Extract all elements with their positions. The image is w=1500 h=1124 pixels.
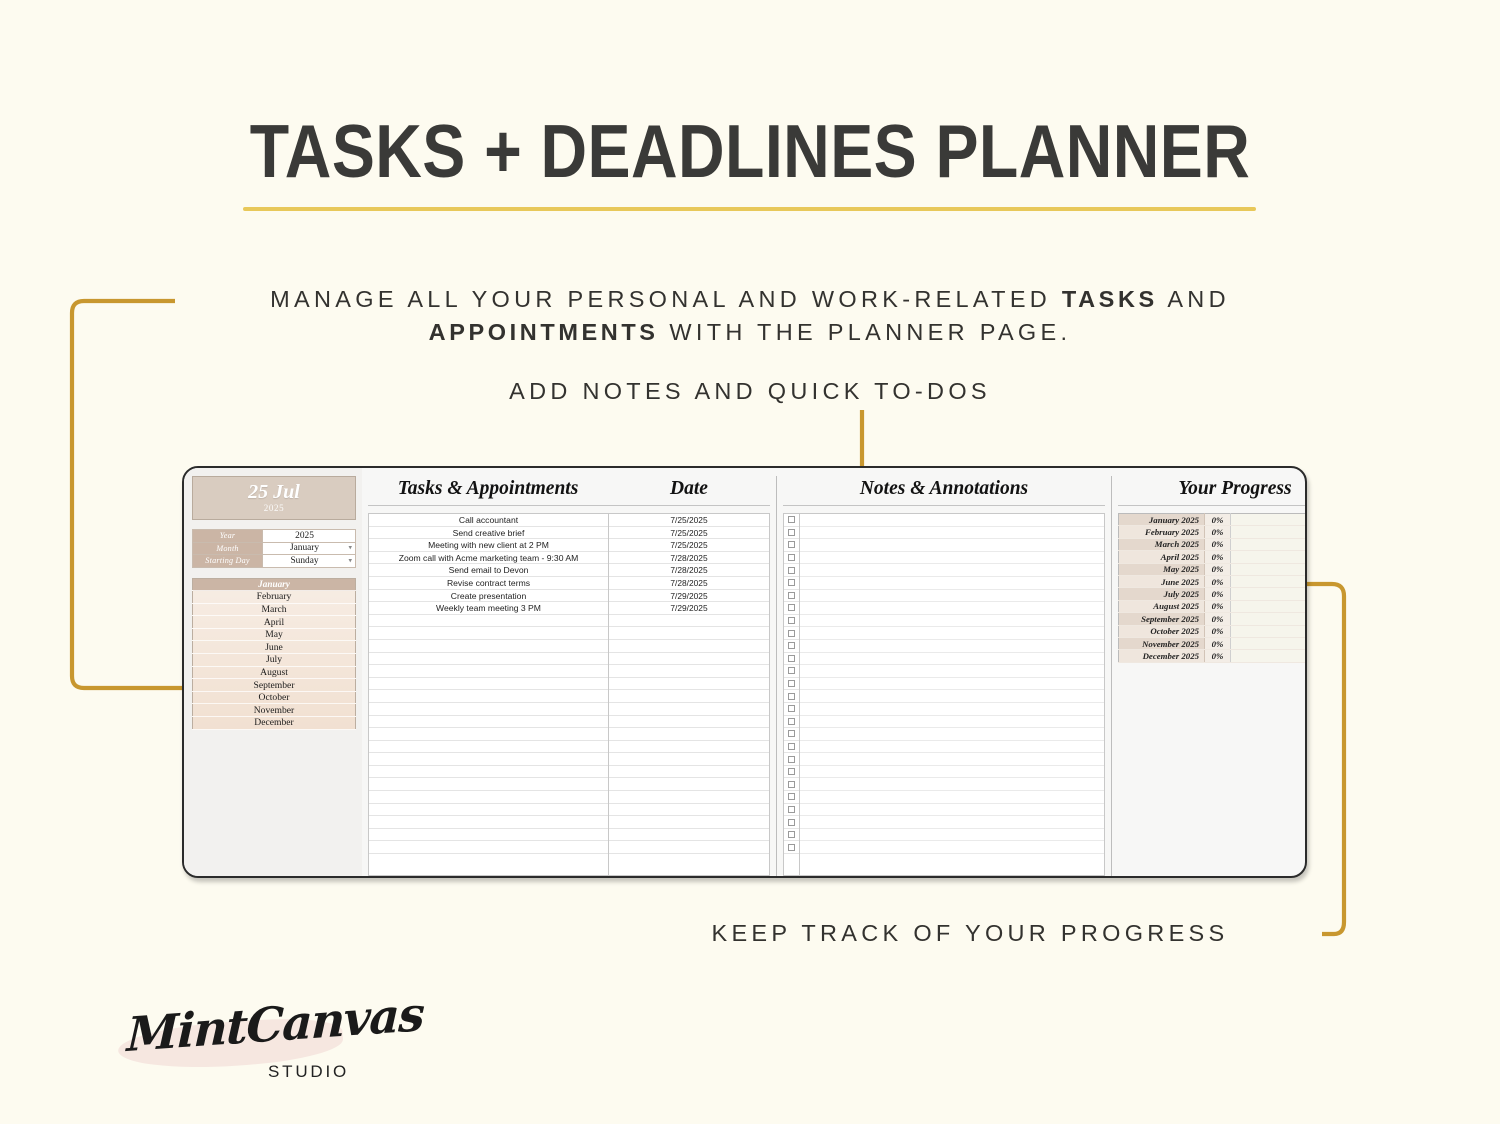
task-cell[interactable] [369, 841, 608, 854]
setting-row[interactable]: Year2025 [193, 530, 356, 543]
date-cell[interactable] [609, 804, 769, 817]
progress-bar-cell [1231, 613, 1308, 625]
checkbox-icon[interactable] [788, 693, 795, 700]
setting-value[interactable]: January▾ [263, 542, 356, 555]
date-cell[interactable] [609, 778, 769, 791]
progress-percent-value: 0% [1205, 637, 1231, 649]
setting-label: Month [193, 542, 263, 555]
date-cell[interactable] [609, 728, 769, 741]
note-checkbox-cell[interactable] [784, 703, 799, 716]
month-label: June [193, 641, 356, 654]
note-checkbox-cell[interactable] [784, 514, 799, 527]
date-badge-year: 2025 [264, 502, 284, 514]
task-cell[interactable] [369, 627, 608, 640]
note-checkbox-cell[interactable] [784, 690, 799, 703]
progress-month-label: September 2025 [1119, 613, 1205, 625]
note-checkbox-cell[interactable] [784, 590, 799, 603]
date-cell[interactable] [609, 766, 769, 779]
task-cell[interactable] [369, 728, 608, 741]
progress-row: June 20250% [1119, 575, 1308, 587]
checkbox-icon[interactable] [788, 604, 795, 611]
checkbox-icon[interactable] [788, 806, 795, 813]
note-text-cell[interactable] [800, 590, 1104, 603]
checkbox-icon[interactable] [788, 516, 795, 523]
month-list-item[interactable]: May [193, 628, 356, 641]
date-cell[interactable]: 7/25/2025 [609, 539, 769, 552]
month-label: January [193, 578, 356, 591]
note-checkbox-cell[interactable] [784, 602, 799, 615]
note-checkbox-cell[interactable] [784, 841, 799, 854]
date-column-header: Date [608, 476, 770, 506]
setting-label: Starting Day [193, 555, 263, 568]
note-checkbox-cell[interactable] [784, 804, 799, 817]
progress-bar-cell [1231, 526, 1308, 538]
task-cell[interactable] [369, 653, 608, 666]
tasks-column-header: Tasks & Appointments [368, 476, 608, 506]
subtitle-text-3: WITH THE PLANNER PAGE. [659, 319, 1072, 345]
note-text-cell[interactable] [800, 615, 1104, 628]
month-rows: JanuaryFebruaryMarchAprilMayJuneJulyAugu… [193, 578, 356, 729]
progress-percent-value: 0% [1205, 551, 1231, 563]
date-cell[interactable] [609, 703, 769, 716]
date-cell[interactable] [609, 841, 769, 854]
tasks-header-row: Tasks & Appointments Date [368, 476, 770, 506]
note-checkbox-cell[interactable] [784, 653, 799, 666]
task-cell[interactable] [369, 665, 608, 678]
date-cell[interactable] [609, 678, 769, 691]
note-text-cell[interactable] [800, 778, 1104, 791]
task-cell[interactable] [369, 716, 608, 729]
notes-grid[interactable] [783, 513, 1105, 876]
tasks-column: Tasks & Appointments Date Call accountan… [362, 476, 776, 876]
task-cell[interactable]: Revise contract terms [369, 577, 608, 590]
setting-row[interactable]: MonthJanuary▾ [193, 542, 356, 555]
note-text-cell[interactable] [800, 804, 1104, 817]
month-label: April [193, 616, 356, 629]
planner-window: 25 Jul 2025 Year2025MonthJanuary▾Startin… [182, 466, 1307, 878]
checkbox-icon[interactable] [788, 579, 795, 586]
logo-subtitle-text: STUDIO [268, 1062, 349, 1082]
note-checkbox-cell[interactable] [784, 791, 799, 804]
progress-bar-cell [1231, 538, 1308, 550]
progress-row: July 20250% [1119, 588, 1308, 600]
task-cell[interactable]: Zoom call with Acme marketing team - 9:3… [369, 552, 608, 565]
date-cell[interactable]: 7/25/2025 [609, 527, 769, 540]
progress-percent-value: 0% [1205, 625, 1231, 637]
checkbox-icon[interactable] [788, 642, 795, 649]
progress-percent-value: 0% [1205, 613, 1231, 625]
tasks-grid[interactable]: Call accountantSend creative briefMeetin… [368, 513, 770, 876]
note-checkbox-cell[interactable] [784, 627, 799, 640]
progress-rows: January 20250%February 20250%March 20250… [1119, 514, 1308, 663]
callout-notes-label: ADD NOTES AND QUICK TO-DOS [150, 378, 1350, 405]
note-checkbox-cell[interactable] [784, 716, 799, 729]
task-cell[interactable]: Send email to Devon [369, 564, 608, 577]
checkbox-icon[interactable] [788, 667, 795, 674]
date-badge: 25 Jul 2025 [192, 476, 356, 520]
task-cell[interactable]: Send creative brief [369, 527, 608, 540]
progress-column-header: Your Progress [1118, 476, 1307, 506]
note-text-cell[interactable] [800, 552, 1104, 565]
notes-checkbox-column[interactable] [784, 514, 800, 875]
progress-percent-value: 0% [1205, 588, 1231, 600]
notes-column-header: Notes & Annotations [783, 476, 1105, 506]
checkbox-icon[interactable] [788, 541, 795, 548]
task-cell[interactable] [369, 741, 608, 754]
month-label: October [193, 691, 356, 704]
date-cell[interactable] [609, 829, 769, 842]
settings-rows: Year2025MonthJanuary▾Starting DaySunday▾ [193, 530, 356, 568]
checkbox-icon[interactable] [788, 844, 795, 851]
task-cell[interactable] [369, 829, 608, 842]
month-label: November [193, 704, 356, 717]
note-text-cell[interactable] [800, 564, 1104, 577]
note-text-cell[interactable] [800, 703, 1104, 716]
note-checkbox-cell[interactable] [784, 678, 799, 691]
progress-month-label: August 2025 [1119, 600, 1205, 612]
date-cell[interactable]: 7/29/2025 [609, 602, 769, 615]
month-label: July [193, 654, 356, 667]
date-cell[interactable] [609, 791, 769, 804]
progress-table-wrap: January 20250%February 20250%March 20250… [1118, 513, 1307, 663]
progress-row: September 20250% [1119, 613, 1308, 625]
month-label: August [193, 666, 356, 679]
progress-month-label: February 2025 [1119, 526, 1205, 538]
progress-row: August 20250% [1119, 600, 1308, 612]
chevron-down-icon[interactable]: ▾ [348, 557, 352, 564]
setting-label: Year [193, 530, 263, 543]
task-cell[interactable] [369, 804, 608, 817]
subtitle-line: MANAGE ALL YOUR PERSONAL AND WORK-RELATE… [150, 283, 1350, 349]
task-cell[interactable] [369, 791, 608, 804]
note-checkbox-cell[interactable] [784, 778, 799, 791]
logo-script-text: MintCanvas [126, 987, 424, 1063]
month-label: May [193, 628, 356, 641]
checkbox-icon[interactable] [788, 756, 795, 763]
task-cell[interactable]: Create presentation [369, 590, 608, 603]
note-checkbox-cell[interactable] [784, 665, 799, 678]
progress-month-label: April 2025 [1119, 551, 1205, 563]
progress-month-label: July 2025 [1119, 588, 1205, 600]
note-text-cell[interactable] [800, 653, 1104, 666]
subtitle-bold-tasks: TASKS [1062, 286, 1158, 312]
note-checkbox-cell[interactable] [784, 816, 799, 829]
note-checkbox-cell[interactable] [784, 564, 799, 577]
progress-percent-value: 0% [1205, 563, 1231, 575]
note-text-cell[interactable] [800, 678, 1104, 691]
date-cell[interactable] [609, 653, 769, 666]
task-cell[interactable] [369, 778, 608, 791]
progress-percent-value: 0% [1205, 538, 1231, 550]
note-text-cell[interactable] [800, 539, 1104, 552]
task-cell[interactable] [369, 753, 608, 766]
note-checkbox-cell[interactable] [784, 577, 799, 590]
note-text-cell[interactable] [800, 728, 1104, 741]
checkbox-icon[interactable] [788, 567, 795, 574]
date-cell[interactable]: 7/29/2025 [609, 590, 769, 603]
poster-canvas: TASKS + DEADLINES PLANNER MANAGE ALL YOU… [0, 0, 1500, 1124]
month-label: December [193, 717, 356, 730]
chevron-down-icon[interactable]: ▾ [348, 545, 352, 552]
progress-row: December 20250% [1119, 650, 1308, 662]
date-cell[interactable] [609, 753, 769, 766]
checkbox-icon[interactable] [788, 781, 795, 788]
date-cells[interactable]: 7/25/20257/25/20257/25/20257/28/20257/28… [609, 514, 769, 875]
notes-text-column[interactable] [800, 514, 1104, 875]
month-list-item[interactable]: October [193, 691, 356, 704]
progress-month-label: May 2025 [1119, 563, 1205, 575]
note-checkbox-cell[interactable] [784, 640, 799, 653]
date-cell[interactable] [609, 690, 769, 703]
note-text-cell[interactable] [800, 716, 1104, 729]
note-text-cell[interactable] [800, 741, 1104, 754]
progress-bar-cell [1231, 650, 1308, 662]
month-list-item[interactable]: January [193, 578, 356, 591]
task-cells[interactable]: Call accountantSend creative briefMeetin… [369, 514, 609, 875]
note-checkbox-cell[interactable] [784, 527, 799, 540]
task-cell[interactable] [369, 690, 608, 703]
date-cell[interactable] [609, 741, 769, 754]
note-checkbox-cell[interactable] [784, 615, 799, 628]
note-text-cell[interactable] [800, 829, 1104, 842]
month-list: JanuaryFebruaryMarchAprilMayJuneJulyAugu… [192, 578, 356, 730]
setting-value[interactable]: 2025 [263, 530, 356, 543]
progress-bar-cell [1231, 563, 1308, 575]
month-list-item[interactable]: July [193, 654, 356, 667]
progress-row: November 20250% [1119, 637, 1308, 649]
planner-main: Tasks & Appointments Date Call accountan… [362, 468, 1307, 876]
progress-percent-value: 0% [1205, 600, 1231, 612]
checkbox-icon[interactable] [788, 617, 795, 624]
task-cell[interactable] [369, 816, 608, 829]
month-list-item[interactable]: September [193, 679, 356, 692]
notes-column: Notes & Annotations [776, 476, 1112, 876]
title-underline-rule [243, 207, 1256, 211]
date-cell[interactable] [609, 627, 769, 640]
progress-month-label: December 2025 [1119, 650, 1205, 662]
progress-bar-cell [1231, 551, 1308, 563]
subtitle-bold-appointments: APPOINTMENTS [429, 319, 659, 345]
progress-month-label: June 2025 [1119, 575, 1205, 587]
note-text-cell[interactable] [800, 690, 1104, 703]
progress-row: October 20250% [1119, 625, 1308, 637]
date-cell[interactable] [609, 665, 769, 678]
note-text-cell[interactable] [800, 602, 1104, 615]
checkbox-icon[interactable] [788, 743, 795, 750]
note-text-cell[interactable] [800, 816, 1104, 829]
task-cell[interactable]: Weekly team meeting 3 PM [369, 602, 608, 615]
date-cell[interactable]: 7/25/2025 [609, 514, 769, 527]
note-text-cell[interactable] [800, 640, 1104, 653]
date-cell[interactable] [609, 615, 769, 628]
month-label: September [193, 679, 356, 692]
date-cell[interactable]: 7/28/2025 [609, 564, 769, 577]
note-text-cell[interactable] [800, 577, 1104, 590]
subtitle-text-1: MANAGE ALL YOUR PERSONAL AND WORK-RELATE… [270, 286, 1062, 312]
month-list-item[interactable]: November [193, 704, 356, 717]
task-cell[interactable]: Meeting with new client at 2 PM [369, 539, 608, 552]
note-checkbox-cell[interactable] [784, 753, 799, 766]
date-cell[interactable] [609, 816, 769, 829]
note-checkbox-cell[interactable] [784, 728, 799, 741]
task-cell[interactable] [369, 640, 608, 653]
progress-bar-cell [1231, 600, 1308, 612]
checkbox-icon[interactable] [788, 529, 795, 536]
checkbox-icon[interactable] [788, 554, 795, 561]
note-text-cell[interactable] [800, 665, 1104, 678]
note-text-cell[interactable] [800, 791, 1104, 804]
month-list-item[interactable]: August [193, 666, 356, 679]
note-checkbox-cell[interactable] [784, 552, 799, 565]
progress-table: January 20250%February 20250%March 20250… [1118, 513, 1307, 663]
month-list-item[interactable]: April [193, 616, 356, 629]
progress-bar-cell [1231, 588, 1308, 600]
callout-progress-label: KEEP TRACK OF YOUR PROGRESS [600, 920, 1340, 947]
month-list-item[interactable]: December [193, 717, 356, 730]
planner-sidebar: 25 Jul 2025 Year2025MonthJanuary▾Startin… [184, 468, 362, 876]
setting-row[interactable]: Starting DaySunday▾ [193, 555, 356, 568]
note-checkbox-cell[interactable] [784, 766, 799, 779]
subtitle-text-2: AND [1158, 286, 1230, 312]
note-text-cell[interactable] [800, 766, 1104, 779]
progress-percent-value: 0% [1205, 650, 1231, 662]
checkbox-icon[interactable] [788, 793, 795, 800]
note-checkbox-cell[interactable] [784, 741, 799, 754]
note-text-cell[interactable] [800, 527, 1104, 540]
month-list-item[interactable]: June [193, 641, 356, 654]
checkbox-icon[interactable] [788, 718, 795, 725]
progress-month-label: January 2025 [1119, 514, 1205, 526]
task-cell[interactable] [369, 766, 608, 779]
task-cell[interactable] [369, 703, 608, 716]
progress-bar-cell [1231, 637, 1308, 649]
progress-percent-value: 0% [1205, 514, 1231, 526]
checkbox-icon[interactable] [788, 819, 795, 826]
month-list-item[interactable]: March [193, 603, 356, 616]
planner-settings-table: Year2025MonthJanuary▾Starting DaySunday▾ [192, 529, 356, 568]
note-text-cell[interactable] [800, 514, 1104, 527]
setting-value[interactable]: Sunday▾ [263, 555, 356, 568]
checkbox-icon[interactable] [788, 768, 795, 775]
date-cell[interactable] [609, 716, 769, 729]
date-cell[interactable] [609, 640, 769, 653]
progress-row: March 20250% [1119, 538, 1308, 550]
page-title: TASKS + DEADLINES PLANNER [105, 108, 1395, 194]
note-checkbox-cell[interactable] [784, 829, 799, 842]
progress-month-label: March 2025 [1119, 538, 1205, 550]
progress-bar-cell [1231, 625, 1308, 637]
note-text-cell[interactable] [800, 753, 1104, 766]
note-text-cell[interactable] [800, 841, 1104, 854]
progress-row: January 20250% [1119, 514, 1308, 526]
progress-row: May 20250% [1119, 563, 1308, 575]
date-cell[interactable]: 7/28/2025 [609, 552, 769, 565]
progress-column: Your Progress January 20250%February 202… [1112, 476, 1307, 876]
note-checkbox-cell[interactable] [784, 539, 799, 552]
month-label: February [193, 591, 356, 604]
checkbox-icon[interactable] [788, 831, 795, 838]
progress-row: April 20250% [1119, 551, 1308, 563]
checkbox-icon[interactable] [788, 680, 795, 687]
progress-bar-cell [1231, 514, 1308, 526]
checkbox-icon[interactable] [788, 655, 795, 662]
checkbox-icon[interactable] [788, 592, 795, 599]
task-cell[interactable]: Call accountant [369, 514, 608, 527]
progress-bar-cell [1231, 575, 1308, 587]
month-label: March [193, 603, 356, 616]
progress-row: February 20250% [1119, 526, 1308, 538]
checkbox-icon[interactable] [788, 705, 795, 712]
progress-percent-value: 0% [1205, 526, 1231, 538]
checkbox-icon[interactable] [788, 730, 795, 737]
progress-month-label: October 2025 [1119, 625, 1205, 637]
date-badge-day: 25 Jul [248, 482, 300, 502]
task-cell[interactable] [369, 615, 608, 628]
task-cell[interactable] [369, 678, 608, 691]
date-cell[interactable]: 7/28/2025 [609, 577, 769, 590]
progress-percent-value: 0% [1205, 575, 1231, 587]
month-list-item[interactable]: February [193, 591, 356, 604]
progress-month-label: November 2025 [1119, 637, 1205, 649]
brand-logo: MintCanvas STUDIO [112, 1000, 382, 1105]
note-text-cell[interactable] [800, 627, 1104, 640]
checkbox-icon[interactable] [788, 630, 795, 637]
